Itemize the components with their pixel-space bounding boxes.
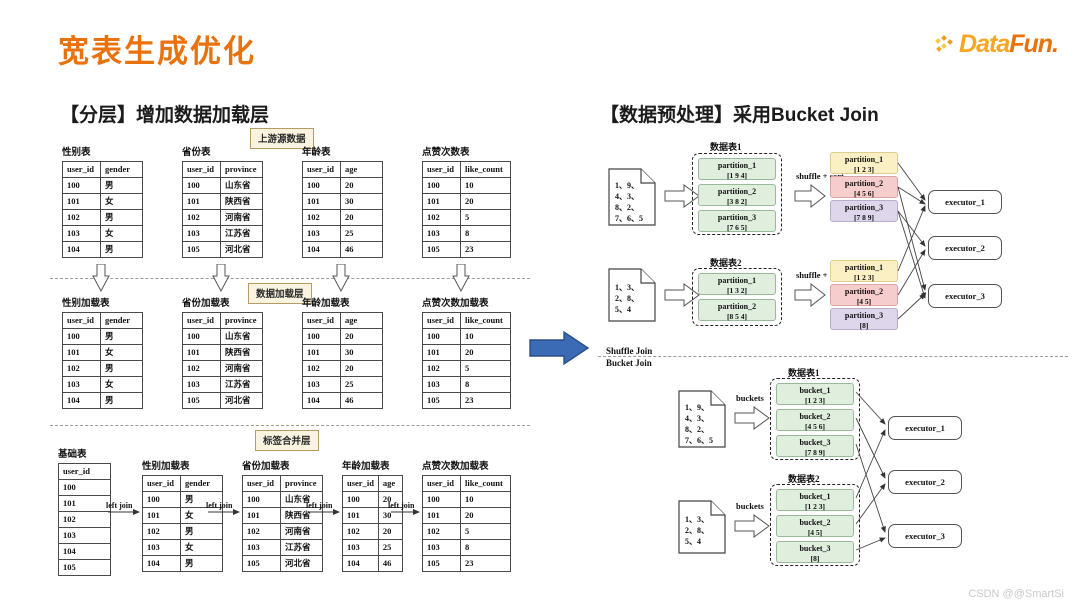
label-bucket-join: Bucket Join xyxy=(606,358,652,368)
chip-bucket-1-1: bucket_1 [1 2 3] xyxy=(776,383,854,405)
table-cell: 104 xyxy=(143,556,181,572)
table-cell: 102 xyxy=(183,361,221,377)
data-table: user_idlike_count10010101201025103810523 xyxy=(422,161,511,258)
table-cell: 102 xyxy=(243,524,281,540)
table-cell: 103 xyxy=(183,377,221,393)
table-row: 10220 xyxy=(303,361,383,377)
table-title: 点赞次数表 xyxy=(422,144,511,158)
buckets-label: buckets xyxy=(736,393,764,403)
chip-bucket-2-3: bucket_3 [8] xyxy=(776,541,854,563)
table-header-row: user_idlike_count xyxy=(423,313,511,329)
table-cell: 5 xyxy=(461,361,511,377)
table-like-count-loading: 点赞次数加载表user_idlike_count1001010120102510… xyxy=(422,295,511,409)
table-gender-merge: 性别加载表user_idgender100男101女102男103女104男 xyxy=(142,458,223,572)
table-row: 102河南省 xyxy=(243,524,323,540)
fat-arrow-icon-bucket-2: buckets xyxy=(734,514,770,543)
table-cell: 男 xyxy=(101,242,143,258)
table-row: 10120 xyxy=(423,345,511,361)
table-cell: 男 xyxy=(101,393,143,409)
chip-name: bucket_1 xyxy=(799,492,830,501)
table-row: 10020 xyxy=(303,329,383,345)
chip-name: partition_2 xyxy=(718,302,756,311)
chip-name: bucket_1 xyxy=(799,386,830,395)
chip-values: [8] xyxy=(777,554,853,564)
table-cell: 100 xyxy=(63,178,101,194)
column-header: age xyxy=(378,476,402,492)
chip-values: [1 2 3] xyxy=(831,165,897,175)
table-row: 10325 xyxy=(343,540,403,556)
table-row: 10130 xyxy=(303,194,383,210)
down-arrow-icon-2 xyxy=(212,264,228,290)
table-cell: 10 xyxy=(461,492,511,508)
table-cell: 5 xyxy=(461,210,511,226)
table-row: 10325 xyxy=(303,377,383,393)
chip-name: partition_1 xyxy=(845,155,883,164)
table-row: 105河北省 xyxy=(183,242,263,258)
table-cell: 102 xyxy=(423,361,461,377)
table-cell: 陕西省 xyxy=(221,194,263,210)
chip-values: [3 8 2] xyxy=(699,197,775,207)
table-cell: 101 xyxy=(243,508,281,524)
table-cell: 河北省 xyxy=(281,556,323,572)
chip-values: [4 5] xyxy=(777,528,853,538)
table-cell: 女 xyxy=(101,194,143,210)
chip-name: partition_1 xyxy=(718,161,756,170)
table-cell: 10 xyxy=(461,178,511,194)
table-row: 101陕西省 xyxy=(183,194,263,210)
label-shuffle-join: Shuffle Join xyxy=(606,346,652,356)
source-doc-text-shuffle-2: 1、3、 2、8、 5、4 xyxy=(615,282,639,315)
table-cell: 103 xyxy=(423,377,461,393)
table-age-loading: 年龄加载表user_idage1002010130102201032510446 xyxy=(302,295,383,409)
data-table: user_idprovince100山东省101陕西省102河南省103江苏省1… xyxy=(182,161,263,258)
table-header-row: user_idlike_count xyxy=(423,476,511,492)
table-cell: 10 xyxy=(461,329,511,345)
table-cell: 102 xyxy=(59,512,111,528)
column-header: age xyxy=(341,313,383,329)
transition-arrow-icon xyxy=(528,330,590,371)
data-table: user_idlike_count10010101201025103810523 xyxy=(422,475,511,572)
table-row: 10523 xyxy=(423,556,511,572)
join-label-text: left join xyxy=(106,501,132,510)
column-header: user_id xyxy=(183,313,221,329)
table-cell: 23 xyxy=(461,556,511,572)
table-cell: 100 xyxy=(59,480,111,496)
chip-values: [7 6 5] xyxy=(699,223,775,233)
table-cell: 男 xyxy=(101,178,143,194)
table-row: 101女 xyxy=(63,194,143,210)
table-row: 102男 xyxy=(63,361,143,377)
table-header-row: user_id xyxy=(59,464,111,480)
fat-arrow-icon-bucket-1: buckets xyxy=(734,406,770,435)
table-row: 10130 xyxy=(303,345,383,361)
data-table: user_idage1002010130102201032510446 xyxy=(302,161,383,258)
logo-text-dot: . xyxy=(1052,30,1058,58)
table-row: 100男 xyxy=(63,178,143,194)
table-cell: 100 xyxy=(343,492,379,508)
chip-values: [1 2 3] xyxy=(831,273,897,283)
chip-values: [1 9 4] xyxy=(699,171,775,181)
source-doc-text-bucket-2: 1、3、 2、8、 5、4 xyxy=(685,514,709,547)
table-title: 性别加载表 xyxy=(142,458,223,472)
chip-partition-shuffled-2-3: partition_3 [8] xyxy=(830,308,898,330)
table-cell: 101 xyxy=(63,345,101,361)
down-arrow-icon-4 xyxy=(452,264,468,290)
executor-box-bucket-2: executor_2 xyxy=(888,470,962,494)
chip-bucket-1-2: bucket_2 [4 5 6] xyxy=(776,409,854,431)
data-table: user_idgender100男101女102男103女104男 xyxy=(142,475,223,572)
chip-values: [8 5 4] xyxy=(699,312,775,322)
chip-partition-shuffled-2-1: partition_1 [1 2 3] xyxy=(830,260,898,282)
table-cell: 男 xyxy=(181,524,223,540)
table-row: 1025 xyxy=(423,210,511,226)
table-cell: 103 xyxy=(423,540,461,556)
table-row: 103女 xyxy=(63,226,143,242)
chip-values: [1 3 2] xyxy=(699,286,775,296)
table-cell: 101 xyxy=(183,194,221,210)
chip-name: partition_3 xyxy=(845,311,883,320)
table-cell: 101 xyxy=(303,194,341,210)
table-row: 10010 xyxy=(423,178,511,194)
table-cell: 100 xyxy=(63,329,101,345)
table-title: 基础表 xyxy=(58,446,111,460)
table-cell: 20 xyxy=(461,194,511,210)
table-cell: 103 xyxy=(303,377,341,393)
table-row: 10010 xyxy=(423,329,511,345)
data-table: user_idage1002010130102201032510446 xyxy=(342,475,403,572)
column-header: province xyxy=(281,476,323,492)
executor-box-shuffle-3: executor_3 xyxy=(928,284,1002,308)
table-cell: 25 xyxy=(378,540,402,556)
table-cell: 105 xyxy=(183,242,221,258)
table-title: 点赞次数加载表 xyxy=(422,458,511,472)
table-row: 103女 xyxy=(143,540,223,556)
table-row: 103江苏省 xyxy=(183,377,263,393)
table-cell: 105 xyxy=(243,556,281,572)
table-cell: 104 xyxy=(63,242,101,258)
watermark: CSDN @@SmartSi xyxy=(968,588,1064,600)
table-header-row: user_idage xyxy=(303,313,383,329)
table-cell: 101 xyxy=(423,508,461,524)
executor-box-shuffle-2: executor_2 xyxy=(928,236,1002,260)
table-cell: 105 xyxy=(423,556,461,572)
table-cell: 102 xyxy=(183,210,221,226)
table-row: 10446 xyxy=(303,393,383,409)
table-province-source: 省份表user_idprovince100山东省101陕西省102河南省103江… xyxy=(182,144,263,258)
join-label-text: left join xyxy=(206,501,232,510)
table-cell: 103 xyxy=(343,540,379,556)
table-cell: 5 xyxy=(461,524,511,540)
table-cell: 103 xyxy=(243,540,281,556)
table-cell: 23 xyxy=(461,242,511,258)
table-cell: 103 xyxy=(183,226,221,242)
chip-name: bucket_3 xyxy=(799,544,830,553)
chip-name: bucket_2 xyxy=(799,412,830,421)
table-cell: 46 xyxy=(378,556,402,572)
logo-dots-icon xyxy=(936,36,956,54)
table-row: 1038 xyxy=(423,226,511,242)
column-header: user_id xyxy=(343,476,379,492)
join-label-text: left join xyxy=(388,501,414,510)
column-header: gender xyxy=(101,162,143,178)
table-row: 105河北省 xyxy=(183,393,263,409)
table-title: 点赞次数加载表 xyxy=(422,295,511,309)
table-row: 10446 xyxy=(343,556,403,572)
table-cell: 20 xyxy=(461,508,511,524)
chip-bucket-1-3: bucket_3 [7 8 9] xyxy=(776,435,854,457)
table-cell: 101 xyxy=(343,508,379,524)
table-row: 10120 xyxy=(423,194,511,210)
source-doc-icon-shuffle-2: 1、3、 2、8、 5、4 xyxy=(608,268,656,327)
table-cell: 河南省 xyxy=(221,361,263,377)
chip-name: bucket_2 xyxy=(799,518,830,527)
table-cell: 103 xyxy=(59,528,111,544)
data-table: user_idage1002010130102201032510446 xyxy=(302,312,383,409)
table-cell: 20 xyxy=(341,361,383,377)
table-row: 101陕西省 xyxy=(183,345,263,361)
column-header: gender xyxy=(101,313,143,329)
shuffle-bucket-divider xyxy=(598,356,1068,357)
table-cell: 102 xyxy=(63,361,101,377)
table-cell: 101 xyxy=(423,345,461,361)
table-cell: 104 xyxy=(59,544,111,560)
chip-values: [7 8 9] xyxy=(831,213,897,223)
table-cell: 102 xyxy=(303,361,341,377)
chip-values: [4 5 6] xyxy=(831,189,897,199)
chip-name: partition_3 xyxy=(718,213,756,222)
table-cell: 101 xyxy=(63,194,101,210)
table-header-row: user_idprovince xyxy=(243,476,323,492)
column-header: gender xyxy=(181,476,223,492)
table-cell: 102 xyxy=(143,524,181,540)
table-cell: 104 xyxy=(63,393,101,409)
source-doc-text-bucket-1: 1、9、 4、3、 8、2、 7、6、5 xyxy=(685,402,713,446)
datafun-logo: DataFun. xyxy=(936,30,1058,59)
data-table: user_idprovince100山东省101陕西省102河南省103江苏省1… xyxy=(182,312,263,409)
table-row: 100山东省 xyxy=(183,178,263,194)
section-heading-right: 【数据预处理】采用Bucket Join xyxy=(600,100,879,127)
table-header-row: user_idgender xyxy=(143,476,223,492)
table-cell: 男 xyxy=(101,329,143,345)
chip-partition-src-1-3: partition_3 [7 6 5] xyxy=(698,210,776,232)
chip-partition-src-2-1: partition_1 [1 3 2] xyxy=(698,273,776,295)
fat-arrow-icon-shuffle-sort-1: shuffle + sort xyxy=(794,184,826,213)
source-doc-icon-bucket-1: 1、9、 4、3、 8、2、 7、6、5 xyxy=(678,390,726,453)
table-cell: 100 xyxy=(143,492,181,508)
table-cell: 100 xyxy=(303,329,341,345)
table-cell: 25 xyxy=(341,377,383,393)
column-header: province xyxy=(221,313,263,329)
table-cell: 100 xyxy=(183,329,221,345)
table-cell: 河南省 xyxy=(221,210,263,226)
table-cell: 23 xyxy=(461,393,511,409)
table-row: 10523 xyxy=(423,242,511,258)
table-gender-loading: 性别加载表user_idgender100男101女102男103女104男 xyxy=(62,295,143,409)
table-cell: 102 xyxy=(343,524,379,540)
chip-partition-shuffled-1-1: partition_1 [1 2 3] xyxy=(830,152,898,174)
table-cell: 100 xyxy=(183,178,221,194)
table-row: 103女 xyxy=(63,377,143,393)
table-cell: 山东省 xyxy=(221,329,263,345)
table-cell: 105 xyxy=(59,560,111,576)
table-row: 103江苏省 xyxy=(243,540,323,556)
section-heading-left: 【分层】增加数据加载层 xyxy=(60,100,269,127)
chip-bucket-2-1: bucket_1 [1 2 3] xyxy=(776,489,854,511)
table-header-row: user_idgender xyxy=(63,313,143,329)
chip-values: [7 8 9] xyxy=(777,448,853,458)
source-doc-icon-shuffle-1: 1、9、 4、3、 8、2、 7、6、5 xyxy=(608,168,656,231)
table-cell: 20 xyxy=(341,329,383,345)
table-header-row: user_idprovince xyxy=(183,313,263,329)
chip-values: [4 5 6] xyxy=(777,422,853,432)
table-row: 102男 xyxy=(143,524,223,540)
table-cell: 100 xyxy=(423,178,461,194)
table-row: 104男 xyxy=(143,556,223,572)
table-cell: 103 xyxy=(63,226,101,242)
table-title: 省份表 xyxy=(182,144,263,158)
data-table: user_idgender100男101女102男103女104男 xyxy=(62,161,143,258)
table-row: 10120 xyxy=(423,508,511,524)
table-cell: 8 xyxy=(461,540,511,556)
table-cell: 20 xyxy=(341,210,383,226)
chip-partition-src-2-2: partition_2 [8 5 4] xyxy=(698,299,776,321)
data-table: user_idprovince100山东省101陕西省102河南省103江苏省1… xyxy=(242,475,323,572)
data-table: user_idlike_count10010101201025103810523 xyxy=(422,312,511,409)
chip-partition-shuffled-1-3: partition_3 [7 8 9] xyxy=(830,200,898,222)
column-header: user_id xyxy=(243,476,281,492)
table-cell: 女 xyxy=(181,540,223,556)
table-cell: 104 xyxy=(343,556,379,572)
table-cell: 101 xyxy=(183,345,221,361)
group-label-shuffle-table1: 数据表1 xyxy=(710,140,742,153)
table-cell: 河南省 xyxy=(281,524,323,540)
table-cell: 江苏省 xyxy=(221,377,263,393)
table-cell: 25 xyxy=(341,226,383,242)
table-cell: 46 xyxy=(341,242,383,258)
table-cell: 30 xyxy=(341,345,383,361)
table-row: 104男 xyxy=(63,242,143,258)
chip-partition-shuffled-1-2: partition_2 [4 5 6] xyxy=(830,176,898,198)
table-cell: 105 xyxy=(183,393,221,409)
table-row: 100男 xyxy=(63,329,143,345)
table-row: 101 xyxy=(59,496,111,512)
tag-merge-layer: 标签合并层 xyxy=(255,430,319,451)
chip-partition-shuffled-2-2: partition_2 [4 5] xyxy=(830,284,898,306)
table-row: 103江苏省 xyxy=(183,226,263,242)
column-header: user_id xyxy=(423,162,461,178)
table-cell: 101 xyxy=(423,194,461,210)
table-row: 104男 xyxy=(63,393,143,409)
table-cell: 103 xyxy=(63,377,101,393)
table-row: 10220 xyxy=(303,210,383,226)
fat-arrow-icon-shuffle-sort-2: shuffle + sort xyxy=(794,283,826,312)
chip-name: partition_2 xyxy=(718,187,756,196)
column-header: user_id xyxy=(303,162,341,178)
table-row: 10446 xyxy=(303,242,383,258)
table-row: 100 xyxy=(59,480,111,496)
column-header: province xyxy=(221,162,263,178)
table-title: 省份加载表 xyxy=(242,458,323,472)
table-row: 105 xyxy=(59,560,111,576)
table-cell: 103 xyxy=(143,540,181,556)
table-header-row: user_idage xyxy=(303,162,383,178)
table-base: 基础表user_id100101102103104105 xyxy=(58,446,111,576)
table-cell: 山东省 xyxy=(221,178,263,194)
table-cell: 105 xyxy=(423,242,461,258)
table-row: 102河南省 xyxy=(183,361,263,377)
table-row: 1038 xyxy=(423,540,511,556)
buckets-label: buckets xyxy=(736,501,764,511)
table-cell: 104 xyxy=(303,393,341,409)
chip-values: [4 5] xyxy=(831,297,897,307)
table-cell: 101 xyxy=(143,508,181,524)
logo-text-fun: Fun xyxy=(1009,30,1052,58)
column-header: like_count xyxy=(461,476,511,492)
logo-text-data: Data xyxy=(959,30,1009,58)
table-cell: 江苏省 xyxy=(281,540,323,556)
data-table: user_idgender100男101女102男103女104男 xyxy=(62,312,143,409)
table-cell: 30 xyxy=(341,194,383,210)
chip-name: bucket_3 xyxy=(799,438,830,447)
chip-values: [1 2 3] xyxy=(777,502,853,512)
source-doc-text-shuffle-1: 1、9、 4、3、 8、2、 7、6、5 xyxy=(615,180,643,224)
chip-name: partition_3 xyxy=(845,203,883,212)
table-cell: 101 xyxy=(59,496,111,512)
chip-bucket-2-2: bucket_2 [4 5] xyxy=(776,515,854,537)
table-cell: 男 xyxy=(101,361,143,377)
table-title: 性别表 xyxy=(62,144,143,158)
table-age-source: 年龄表user_idage1002010130102201032510446 xyxy=(302,144,383,258)
table-cell: 102 xyxy=(63,210,101,226)
table-province-loading: 省份加载表user_idprovince100山东省101陕西省102河南省10… xyxy=(182,295,263,409)
chip-name: partition_2 xyxy=(845,179,883,188)
table-title: 年龄表 xyxy=(302,144,383,158)
table-cell: 20 xyxy=(461,345,511,361)
table-cell: 20 xyxy=(341,178,383,194)
table-cell: 陕西省 xyxy=(221,345,263,361)
data-table: user_id100101102103104105 xyxy=(58,463,111,576)
chip-name: partition_2 xyxy=(845,287,883,296)
table-row: 102河南省 xyxy=(183,210,263,226)
table-province-merge: 省份加载表user_idprovince100山东省101陕西省102河南省10… xyxy=(242,458,323,572)
row-divider-2 xyxy=(50,425,530,426)
table-row: 10020 xyxy=(303,178,383,194)
table-cell: 105 xyxy=(423,393,461,409)
table-header-row: user_idage xyxy=(343,476,403,492)
table-like-count-merge: 点赞次数加载表user_idlike_count1001010120102510… xyxy=(422,458,511,572)
table-cell: 女 xyxy=(101,226,143,242)
table-cell: 男 xyxy=(101,210,143,226)
table-like-count-source: 点赞次数表user_idlike_count100101012010251038… xyxy=(422,144,511,258)
column-header: user_id xyxy=(63,313,101,329)
chip-values: [8] xyxy=(831,321,897,331)
chip-name: partition_1 xyxy=(718,276,756,285)
table-cell: 103 xyxy=(303,226,341,242)
table-cell: 100 xyxy=(243,492,281,508)
chip-name: partition_1 xyxy=(845,263,883,272)
table-row: 10523 xyxy=(423,393,511,409)
chip-partition-src-1-1: partition_1 [1 9 4] xyxy=(698,158,776,180)
column-header: user_id xyxy=(423,313,461,329)
table-cell: 男 xyxy=(181,556,223,572)
table-row: 10220 xyxy=(343,524,403,540)
executor-box-bucket-3: executor_3 xyxy=(888,524,962,548)
logo-wordmark: DataFun. xyxy=(959,30,1058,59)
column-header: user_id xyxy=(423,476,461,492)
table-title: 年龄加载表 xyxy=(302,295,383,309)
chip-partition-src-1-2: partition_2 [3 8 2] xyxy=(698,184,776,206)
down-arrow-icon-1 xyxy=(92,264,108,290)
